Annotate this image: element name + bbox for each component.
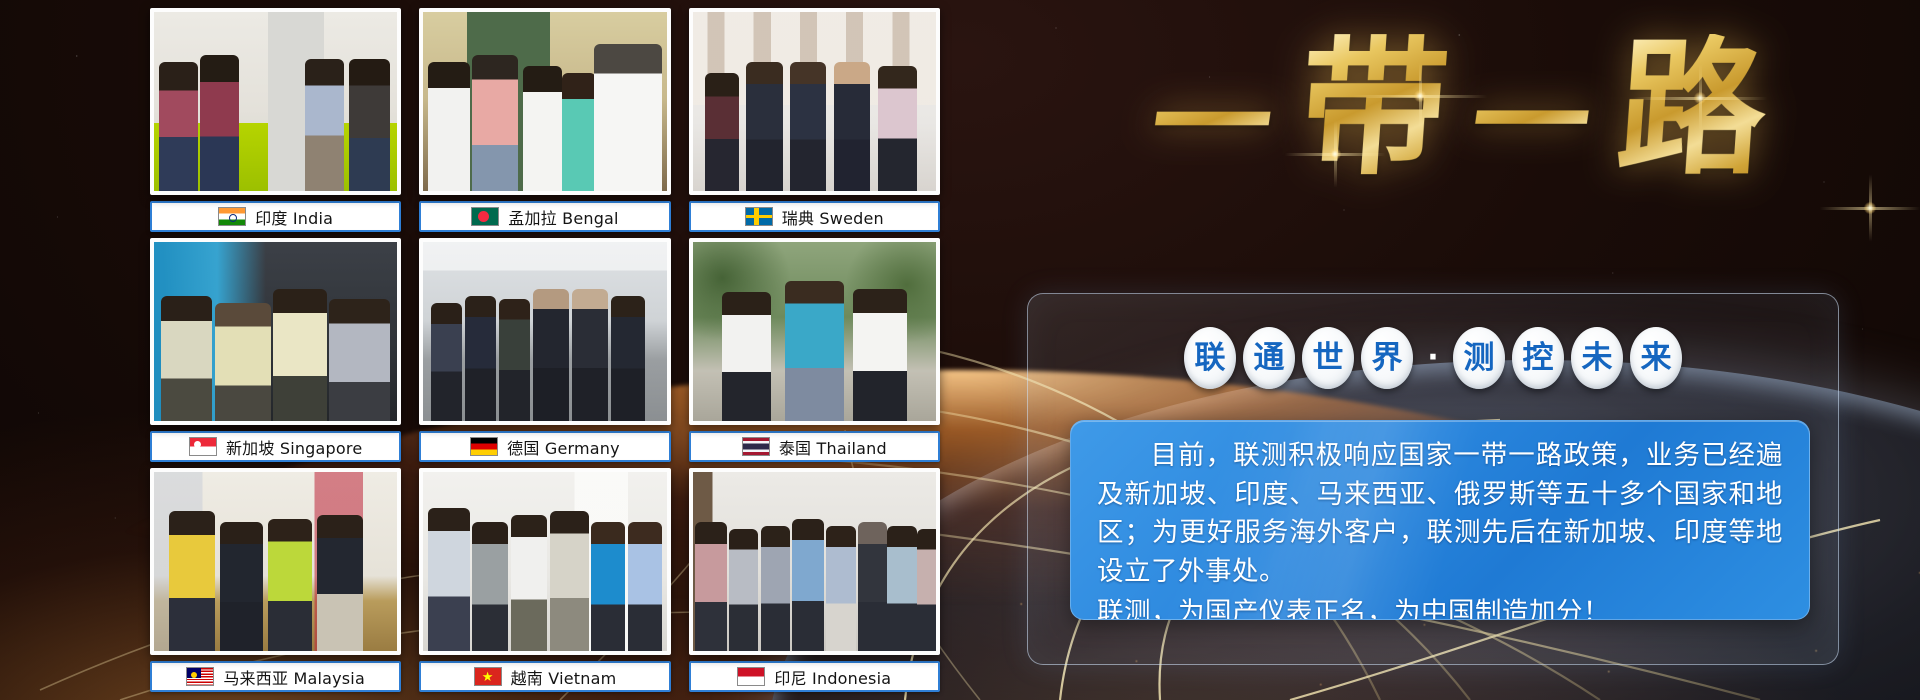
slogan-badge-8: 来 (1630, 327, 1682, 389)
caption-label: 新加坡 Singapore (226, 435, 362, 459)
caption-label: 马来西亚 Malaysia (223, 665, 365, 689)
banner-stage: 印度 India 孟加拉 Bengal (0, 0, 1920, 700)
photo-germany[interactable] (419, 238, 670, 425)
flag-sweden-icon (745, 207, 773, 226)
photo-thailand[interactable] (689, 238, 940, 425)
caption-label: 越南 Vietnam (511, 665, 617, 689)
caption-germany: 德国 Germany (419, 431, 670, 462)
caption-label: 孟加拉 Bengal (508, 205, 618, 229)
caption-thailand: 泰国 Thailand (689, 431, 940, 462)
caption-sweden: 瑞典 Sweden (689, 201, 940, 232)
gallery-item-vietnam[interactable]: 越南 Vietnam (419, 468, 670, 692)
flag-india-icon (218, 207, 246, 226)
gallery-item-sweden[interactable]: 瑞典 Sweden (689, 8, 940, 232)
slogan-badge-2: 通 (1243, 327, 1295, 389)
caption-indonesia: 印尼 Indonesia (689, 661, 940, 692)
flag-indonesia-icon (737, 667, 765, 686)
slogan-badge-7: 未 (1571, 327, 1623, 389)
flag-bangladesh-icon (471, 207, 499, 226)
photo-singapore[interactable] (150, 238, 401, 425)
gallery-item-malaysia[interactable]: 马来西亚 Malaysia (150, 468, 401, 692)
gallery-item-bangladesh[interactable]: 孟加拉 Bengal (419, 8, 670, 232)
slogan-separator-dot: · (1420, 345, 1446, 371)
flag-malaysia-icon (186, 667, 214, 686)
headline-char-3: 一 (1464, 63, 1599, 181)
slogan-badge-5: 测 (1453, 327, 1505, 389)
photo-malaysia[interactable] (150, 468, 401, 655)
caption-vietnam: 越南 Vietnam (419, 661, 670, 692)
flag-singapore-icon (189, 437, 217, 456)
country-photo-grid: 印度 India 孟加拉 Bengal (150, 8, 940, 692)
caption-label: 瑞典 Sweden (782, 205, 884, 229)
slogan-badges: 联 通 世 界 · 测 控 未 来 (1027, 325, 1839, 391)
slogan-badge-6: 控 (1512, 327, 1564, 389)
gallery-item-thailand[interactable]: 泰国 Thailand (689, 238, 940, 462)
paragraph-line-1: 目前，联测积极响应国家一带一路政策，业务 (1150, 440, 1701, 471)
flag-vietnam-icon (474, 667, 502, 686)
slogan-badge-4: 界 (1361, 327, 1413, 389)
caption-malaysia: 马来西亚 Malaysia (150, 661, 401, 692)
caption-label: 印度 India (255, 205, 333, 229)
headline-char-2: 带 (1295, 34, 1453, 182)
description-box: 目前，联测积极响应国家一带一路政策，业务已经遍及新加坡、印度、马来西亚、俄罗斯等… (1070, 420, 1810, 620)
gallery-item-india[interactable]: 印度 India (150, 8, 401, 232)
headline-char-1: 一 (1143, 64, 1280, 184)
slogan-badge-3: 世 (1302, 327, 1354, 389)
slogan-badge-1: 联 (1184, 327, 1236, 389)
caption-india: 印度 India (150, 201, 401, 232)
right-content-area: 一 带 一 路 联 通 世 界 · 测 控 未 来 目前，联测积极响应国家一带一… (980, 0, 1920, 700)
photo-indonesia[interactable] (689, 468, 940, 655)
caption-singapore: 新加坡 Singapore (150, 431, 401, 462)
caption-bangladesh: 孟加拉 Bengal (419, 201, 670, 232)
description-text: 目前，联测积极响应国家一带一路政策，业务已经遍及新加坡、印度、马来西亚、俄罗斯等… (1097, 437, 1783, 620)
headline-char-4: 路 (1613, 34, 1771, 182)
photo-india[interactable] (150, 8, 401, 195)
flag-germany-icon (470, 437, 498, 456)
photo-vietnam[interactable] (419, 468, 670, 655)
sparkle-icon (1810, 148, 1920, 268)
caption-label: 泰国 Thailand (779, 435, 887, 459)
gallery-item-germany[interactable]: 德国 Germany (419, 238, 670, 462)
paragraph-line-5: 联测，为国产仪表正名，为中国制造加分！ (1097, 594, 1783, 620)
caption-label: 德国 Germany (507, 435, 620, 459)
gallery-item-singapore[interactable]: 新加坡 Singapore (150, 238, 401, 462)
headline-belt-and-road: 一 带 一 路 (1020, 8, 1900, 208)
photo-sweden[interactable] (689, 8, 940, 195)
caption-label: 印尼 Indonesia (774, 665, 891, 689)
gallery-item-indonesia[interactable]: 印尼 Indonesia (689, 468, 940, 692)
photo-bangladesh[interactable] (419, 8, 670, 195)
flag-thailand-icon (742, 437, 770, 456)
